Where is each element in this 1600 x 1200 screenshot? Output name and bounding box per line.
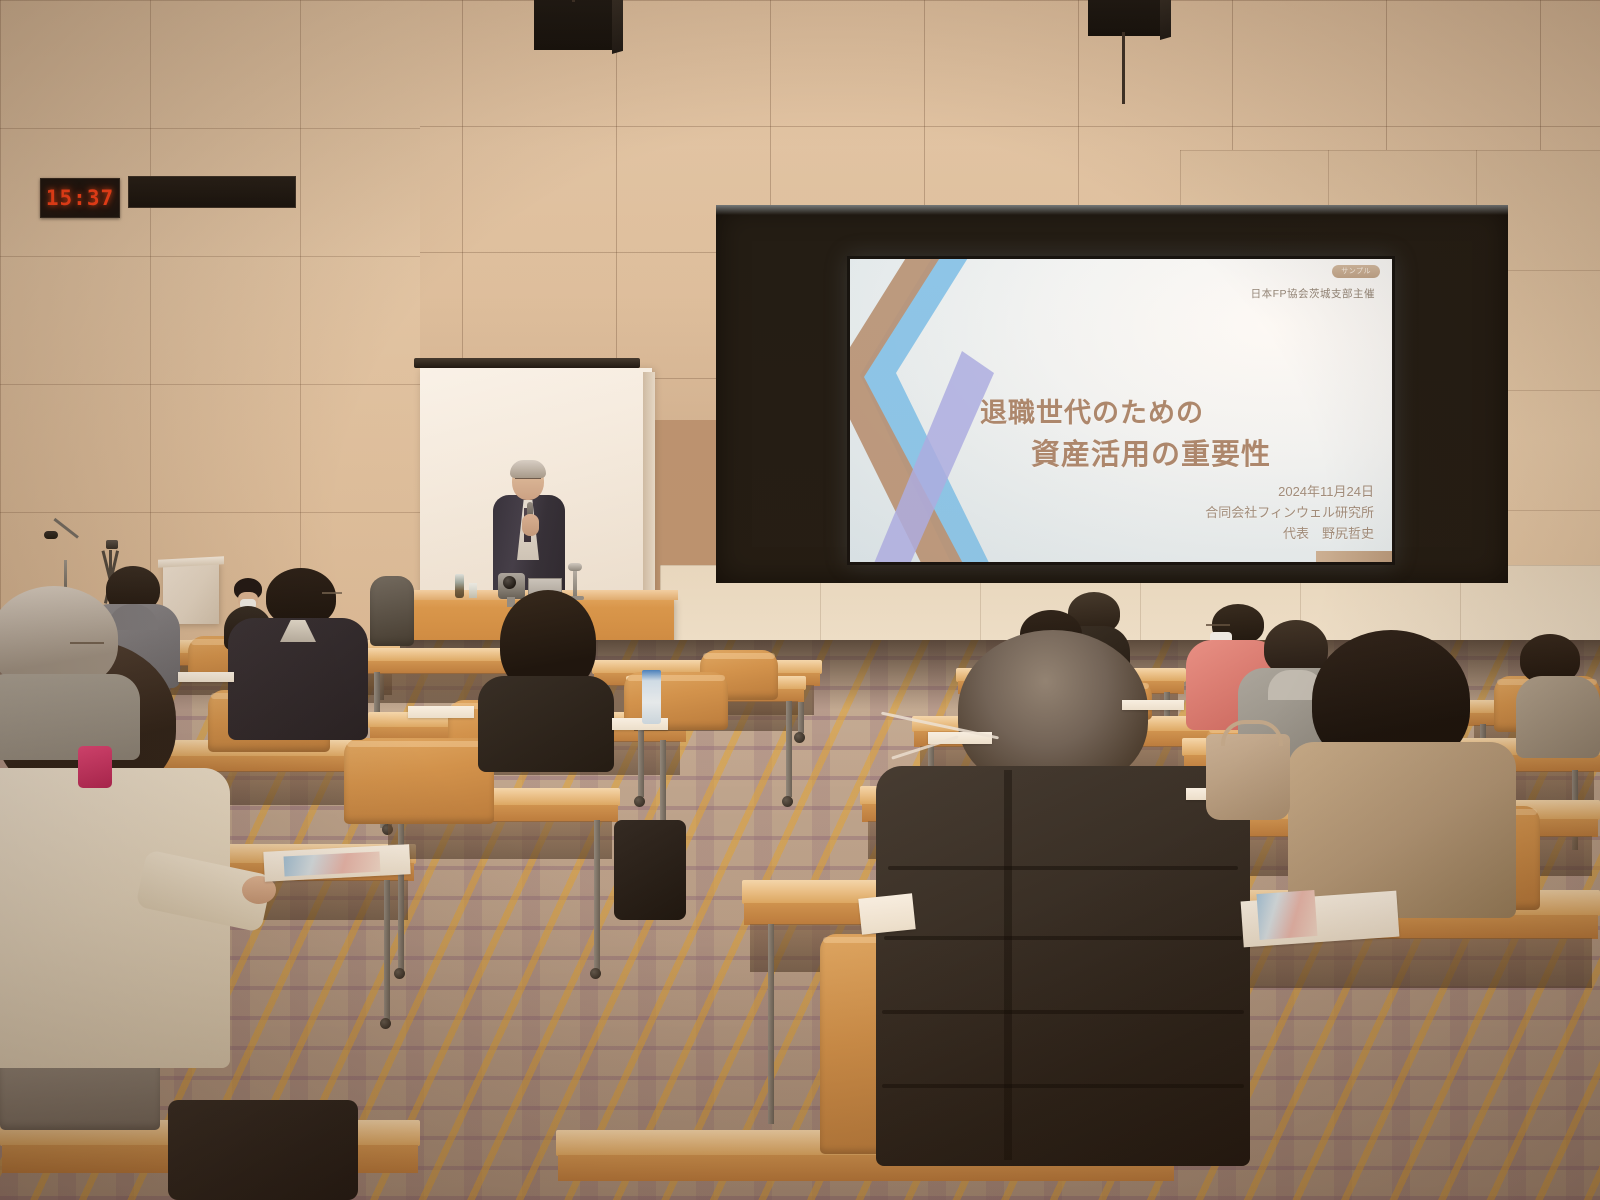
slide-title-line-2: 資産活用の重要性 xyxy=(1031,431,1271,473)
microphone-icon xyxy=(44,531,58,539)
presentation-slide: サンプル 日本FP協会茨城支部主催 退職世代のための 資産活用の重要性 2024… xyxy=(850,259,1392,562)
chair xyxy=(344,738,494,824)
ceiling-speaker-left-icon xyxy=(534,0,612,50)
slide-badge: サンプル xyxy=(1332,265,1380,278)
digital-clock: 15:37 xyxy=(40,178,120,218)
desk-microphone-icon xyxy=(568,563,582,571)
slide-presenter: 代表 野尻哲史 xyxy=(1283,523,1374,542)
audience-member xyxy=(1288,630,1518,912)
audience-member xyxy=(478,590,614,768)
tripod-head xyxy=(106,540,118,549)
wall-column xyxy=(643,372,655,602)
slide-title-line-1: 退職世代のための xyxy=(980,391,1204,430)
audience-member xyxy=(228,568,368,736)
wall-sign-panel xyxy=(128,176,296,208)
water-bottle-icon xyxy=(455,574,464,598)
speaker-mount-left xyxy=(572,0,575,2)
seminar-room-photo: 15:37 サンプル 日本FP協会茨城支部主催 退職世代のための 資産活用の重要… xyxy=(0,0,1600,1200)
projection-screen: サンプル 日本FP協会茨城支部主催 退職世代のための 資産活用の重要性 2024… xyxy=(847,256,1395,565)
floor-bag xyxy=(168,1100,358,1200)
color-brochure xyxy=(1256,890,1317,940)
handout-paper xyxy=(178,672,234,682)
alcove-glow xyxy=(716,205,1508,215)
handbag-icon xyxy=(1206,734,1290,820)
glasses-icon xyxy=(322,592,342,602)
left-wall xyxy=(0,0,420,640)
camera-lens-icon xyxy=(503,576,516,589)
pulldown-screen-bar xyxy=(414,358,640,368)
audience-member xyxy=(0,586,140,756)
slide-date: 2024年11月24日 xyxy=(1278,481,1374,500)
glasses-icon xyxy=(515,478,541,485)
drinking-glass-icon xyxy=(469,583,477,598)
ceiling-speaker-right-icon xyxy=(1088,0,1160,36)
water-bottle-icon xyxy=(642,670,661,724)
slide-host-line: 日本FP協会茨城支部主催 xyxy=(1251,286,1375,301)
slide-footer-bar xyxy=(1316,551,1392,562)
floor-bag xyxy=(614,820,686,920)
handout-paper xyxy=(858,893,915,934)
pink-phone-case xyxy=(78,746,112,788)
clock-time-display: 15:37 xyxy=(46,186,114,210)
speaker-mount-right xyxy=(1122,32,1125,104)
handout-paper xyxy=(408,706,474,718)
slide-company: 合同会社フィンウェル研究所 xyxy=(1205,502,1374,521)
glasses-icon xyxy=(70,642,104,654)
audience-member xyxy=(1516,634,1600,754)
handout-paper xyxy=(1122,700,1184,710)
chair xyxy=(370,576,414,646)
audience-member xyxy=(876,630,1252,1170)
